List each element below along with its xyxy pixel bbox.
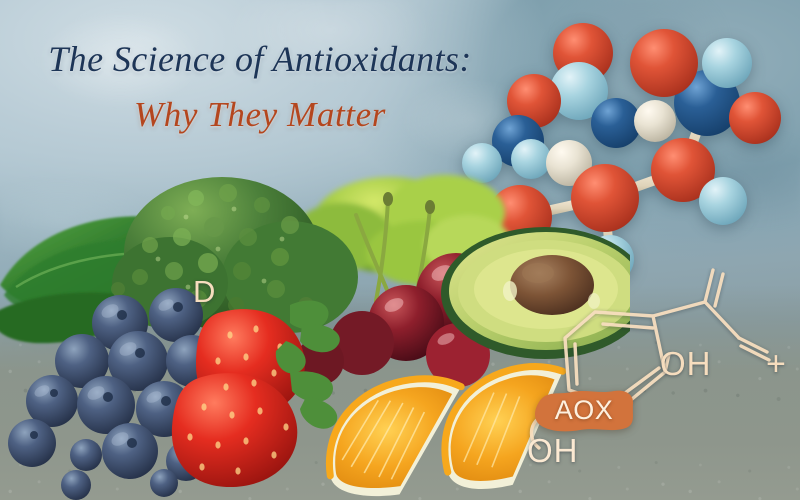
atom-light-blue bbox=[702, 38, 752, 88]
aox-badge: AOX bbox=[530, 386, 638, 434]
aox-badge-label: AOX bbox=[530, 386, 638, 434]
chem-label-d: D bbox=[193, 274, 215, 310]
atom-cream bbox=[634, 100, 676, 142]
atom-light-blue bbox=[699, 177, 747, 225]
atom-red bbox=[630, 29, 698, 97]
title-block: The Science of Antioxidants: Why They Ma… bbox=[0, 38, 520, 135]
chem-label-oh-lower: OH bbox=[527, 432, 579, 470]
atom-red bbox=[729, 92, 781, 144]
banner-image: D OH + OH AOX The Science of Antioxidant… bbox=[0, 0, 800, 500]
chem-label-oh-ring: OH bbox=[660, 345, 712, 383]
atom-blue bbox=[591, 98, 641, 148]
title-line-2: Why They Matter bbox=[0, 95, 520, 135]
chem-label-plus: + bbox=[766, 345, 786, 384]
title-line-1: The Science of Antioxidants: bbox=[0, 38, 520, 80]
